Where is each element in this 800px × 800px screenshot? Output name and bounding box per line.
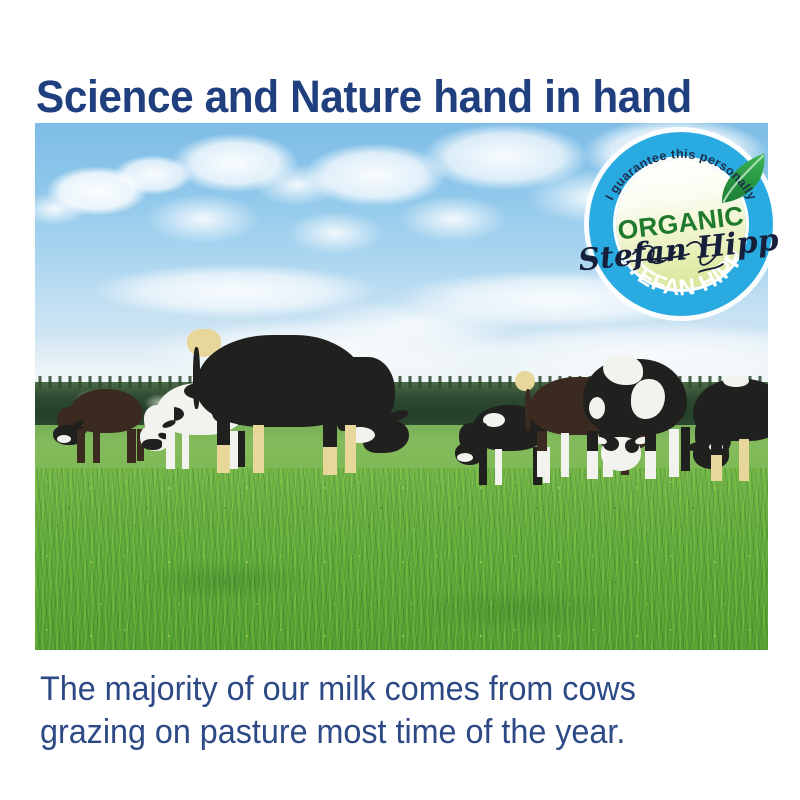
caption-line-1: The majority of our milk comes from cows [40,668,748,711]
cow-black-right [687,371,768,483]
cow-black-foreground [187,329,409,477]
cow-holstein-right-front [573,353,703,481]
caption: The majority of our milk comes from cows… [40,668,748,754]
poster-page: Science and Nature hand in hand [0,0,800,800]
page-title: Science and Nature hand in hand [36,72,732,122]
caption-line-2: grazing on pasture most time of the year… [40,711,748,754]
cow-brown-left [53,385,145,463]
grass-texture-layer [35,468,768,650]
organic-seal-badge[interactable]: I guarantee this personally STEFAN HIPP … [583,126,779,322]
